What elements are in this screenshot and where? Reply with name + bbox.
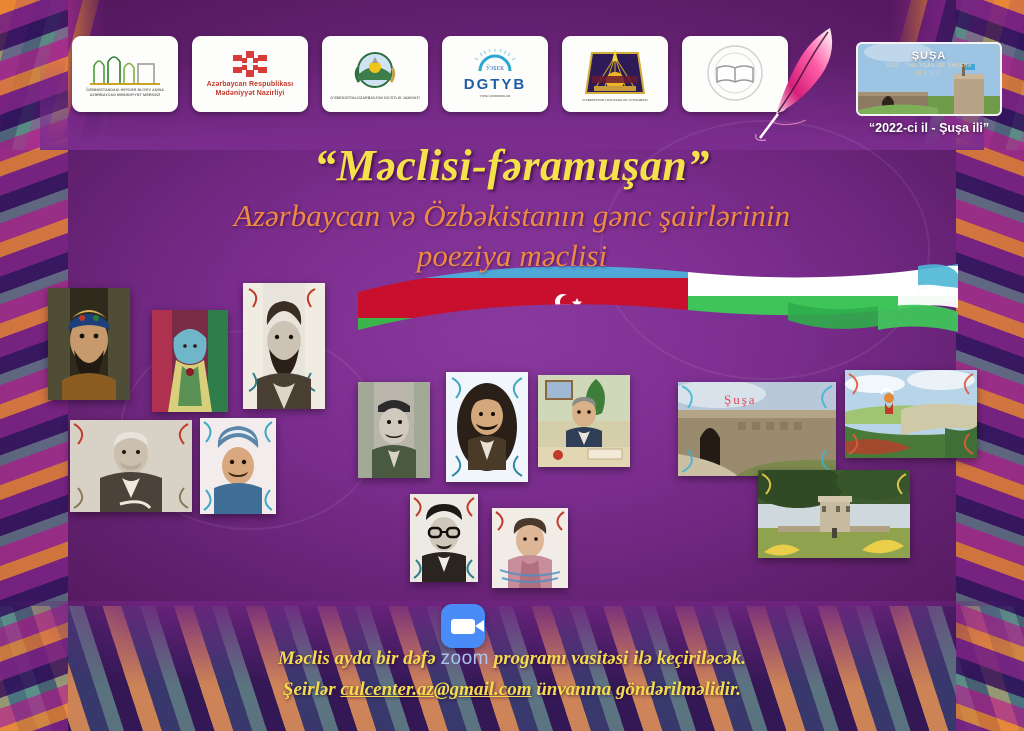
- page-title: “Məclisi-fəramuşan”: [0, 140, 1024, 191]
- shusha-year-badge: ŞUŞA 2022 - THE YEAR OF SHUSHA ШУША “202…: [856, 42, 1002, 135]
- contact-email[interactable]: culcenter.az@gmail.com: [340, 679, 531, 700]
- poet-portrait-8[interactable]: [538, 375, 630, 467]
- poet-portrait-10[interactable]: [492, 508, 568, 588]
- logo-dgtyb[interactable]: ЎЗБЕК DGTYB YOSH IJODKORLAR: [442, 36, 548, 112]
- portrait-image: [410, 494, 478, 582]
- poet-portrait-5[interactable]: [200, 418, 276, 514]
- portrait-image: [152, 310, 228, 412]
- shusha-tower-ruins-photo[interactable]: [758, 470, 910, 558]
- logo-caption: Azərbaycan Respublikası Mədəniyyət Nazir…: [195, 81, 305, 99]
- logo-subcaption: YOSH IJODKORLAR: [480, 95, 511, 99]
- page-subtitle-line1: Azərbaycan və Özbəkistanın gənc şairləri…: [0, 196, 1024, 236]
- footer-line2-after: ünvanına göndərilməlidir.: [536, 679, 741, 700]
- shusha-image-sub2: ШУША: [858, 71, 1000, 77]
- svg-text:ЎЗБЕК: ЎЗБЕК: [486, 64, 505, 72]
- video-camera-icon: [451, 619, 475, 634]
- page-subtitle: Azərbaycan və Özbəkistanın gənc şairləri…: [0, 196, 1024, 275]
- poet-portrait-9[interactable]: [410, 494, 478, 582]
- shusha-image-sub: 2022 - THE YEAR OF SHUSHA: [858, 63, 1000, 69]
- feather-quill: [752, 22, 844, 142]
- footer-line1-after: programı vasitəsi ilə keçiriləcək.: [494, 648, 746, 669]
- portrait-image: [200, 418, 276, 514]
- shusha-photo-label: Şuşa: [724, 392, 757, 407]
- poet-portrait-2[interactable]: [152, 310, 228, 412]
- portrait-image: [243, 283, 325, 409]
- portrait-image: [538, 375, 630, 467]
- footer-line-2: Şeirlər culcenter.az@gmail.com ünvanına …: [0, 679, 1024, 701]
- feather-quill-icon: [752, 22, 844, 142]
- portrait-image: [492, 508, 568, 588]
- shusha-badge-image: ŞUŞA 2022 - THE YEAR OF SHUSHA ШУША: [856, 42, 1002, 116]
- portrait-image: [48, 288, 130, 400]
- shusha-landscape-painting: [845, 370, 977, 458]
- logo-heydar-aliyev-culture-center[interactable]: ÖZBƏKİSTANDAKI HEYDƏR ƏLİYEV ADINA AZƏRB…: [72, 36, 178, 112]
- logo-caption: OʻZBEKISTON-OZARBAYJON DOʻSTLIK JAMIYATI: [330, 96, 419, 101]
- logo-azerbaijan-ministry-of-culture[interactable]: Azərbaycan Respublikası Mədəniyyət Nazir…: [192, 36, 308, 112]
- poet-portrait-6[interactable]: [358, 382, 430, 478]
- portrait-image: [70, 420, 192, 512]
- poet-portrait-3[interactable]: [243, 283, 325, 409]
- logo-strip: ÖZBƏKİSTANDAKI HEYDƏR ƏLİYEV ADINA AZƏRB…: [72, 36, 788, 112]
- shusha-fortress-photo: Şuşa: [678, 382, 836, 476]
- shusha-image-title: ŞUŞA: [858, 50, 1000, 62]
- footer-line2-before: Şeirlər: [283, 679, 336, 700]
- poet-portrait-7[interactable]: [446, 372, 528, 482]
- shusha-cliff-painting-photo[interactable]: [845, 370, 977, 458]
- zoom-logo-icon[interactable]: [441, 604, 485, 648]
- sunrise-rays-icon: ЎЗБЕК: [466, 49, 524, 75]
- shusha-tower-photo: [758, 470, 910, 558]
- writers-union-emblem-icon: [578, 45, 652, 97]
- monuments-icon: [88, 50, 162, 86]
- logo-caption: OʻZBEKISTON YOZUVCHILAR UYUSHMASI: [582, 99, 647, 103]
- buta-knot-icon: [225, 49, 275, 79]
- poet-portrait-4[interactable]: [70, 420, 192, 512]
- shusha-fortress-gate-photo[interactable]: Şuşa: [678, 382, 836, 476]
- logo-uzbekistan-writers-union[interactable]: OʻZBEKISTON YOZUVCHILAR UYUSHMASI: [562, 36, 668, 112]
- logo-uzbekistan-azerbaijan-friendship-society[interactable]: OʻZBEKISTON-OZARBAYJON DOʻSTLIK JAMIYATI: [322, 36, 428, 112]
- uzbekistan-emblem-icon: [352, 48, 398, 94]
- shusha-badge-caption: “2022-ci il - Şuşa ili”: [856, 121, 1002, 135]
- poster-root: ÖZBƏKİSTANDAKI HEYDƏR ƏLİYEV ADINA AZƏRB…: [0, 0, 1024, 731]
- page-subtitle-line2: poeziya məclisi: [0, 236, 1024, 276]
- footer-line-1: Məclis ayda bir dəfə zoom programı vasit…: [0, 648, 1024, 670]
- zoom-word: zoom: [441, 648, 489, 669]
- poet-portrait-1[interactable]: [48, 288, 130, 400]
- portrait-image: [446, 372, 528, 482]
- portrait-image: [358, 382, 430, 478]
- logo-caption: ÖZBƏKİSTANDAKI HEYDƏR ƏLİYEV ADINA AZƏRB…: [75, 88, 175, 97]
- footer-line1-before: Məclis ayda bir dəfə: [278, 648, 436, 669]
- logo-caption: DGTYB: [464, 76, 527, 93]
